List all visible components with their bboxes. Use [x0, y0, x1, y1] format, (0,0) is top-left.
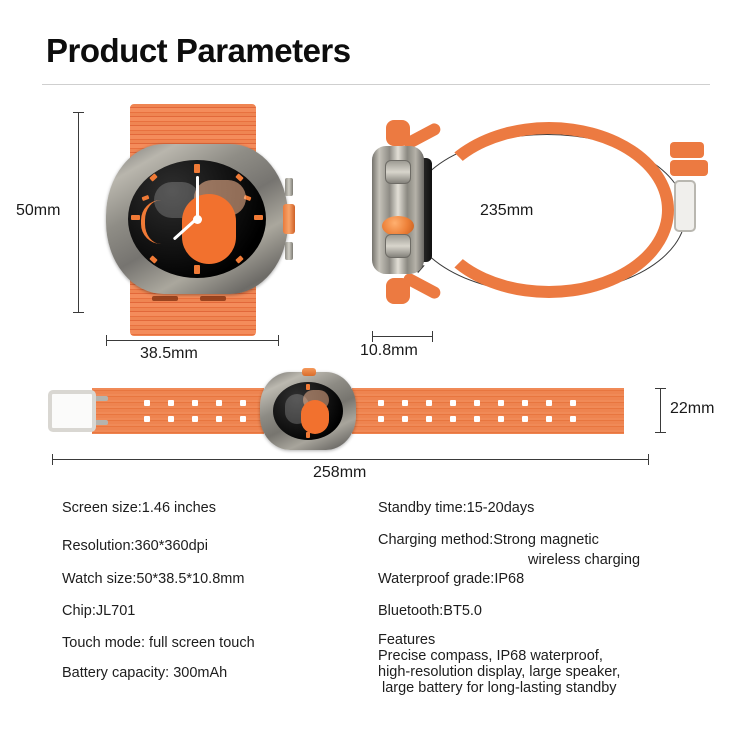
buckle-icon [674, 180, 696, 232]
band-loop [424, 122, 674, 298]
watch-front-view [96, 104, 296, 336]
dimension-label-band-width: 22mm [670, 400, 714, 418]
dimension-label-total-length: 258mm [313, 464, 366, 482]
spec-watch-size: Watch size:50*38.5*10.8mm [62, 571, 244, 587]
watch-case-flat [260, 372, 356, 450]
title-divider [42, 84, 710, 85]
band-hole [522, 416, 528, 422]
dial-tick [235, 173, 244, 181]
band-hole [192, 400, 198, 406]
spec-standby-time: Standby time:15-20days [378, 500, 534, 516]
dial-tick [149, 173, 158, 181]
dimension-cap [73, 312, 84, 313]
dial-motif [182, 194, 236, 264]
band-hole [546, 416, 552, 422]
spec-features-heading: Features [378, 632, 435, 648]
spec-touch-mode: Touch mode: full screen touch [62, 635, 255, 651]
dimension-line-total-length [52, 459, 648, 460]
band-hole [144, 400, 150, 406]
crown-icon [302, 368, 316, 376]
dimension-label-width-front: 38.5mm [140, 345, 198, 363]
band-hole [378, 400, 384, 406]
band-hole [426, 416, 432, 422]
spec-resolution: Resolution:360*360dpi [62, 538, 208, 554]
band-hole [240, 400, 246, 406]
band-left [92, 388, 264, 434]
band-hole [402, 400, 408, 406]
watch-flat-lay-view [44, 372, 664, 450]
band-hole [378, 416, 384, 422]
band-hole [498, 400, 504, 406]
side-button-icon [385, 160, 411, 184]
band-hole [522, 400, 528, 406]
dimension-cap [106, 335, 107, 346]
band-hole [570, 416, 576, 422]
dimension-cap [655, 432, 666, 433]
dimension-label-thickness: 10.8mm [360, 342, 418, 360]
band-keeper [670, 160, 708, 176]
band-slot [152, 296, 178, 301]
band-keeper [670, 142, 704, 158]
dial-tick [235, 255, 244, 263]
dial-tick [254, 215, 263, 220]
dimension-cap [372, 331, 373, 342]
crown-icon [283, 204, 295, 234]
page-title: Product Parameters [46, 32, 351, 70]
band-hole [474, 416, 480, 422]
spec-charging-method: Charging method:Strong magnetic [378, 532, 599, 548]
band-right [352, 388, 624, 434]
band-hole [498, 416, 504, 422]
dimension-cap [648, 454, 649, 465]
dimension-label-height-front: 50mm [16, 202, 60, 220]
band-hole [402, 416, 408, 422]
watch-case-profile [372, 146, 424, 274]
dimension-cap [278, 335, 279, 346]
watch-dial-flat [273, 382, 343, 440]
band-hole [450, 416, 456, 422]
dial-motif [301, 400, 329, 434]
side-button-icon [285, 178, 293, 196]
band-stub [386, 278, 410, 304]
dimension-cap [432, 331, 433, 342]
band-slot [200, 296, 226, 301]
dial-tick [149, 255, 158, 263]
band-stub [386, 120, 410, 146]
band-hole [450, 400, 456, 406]
spec-features-line-3: large battery for long-lasting standby [382, 680, 617, 696]
watch-case [106, 144, 288, 294]
dial-tick [131, 215, 140, 220]
spec-waterproof-grade: Waterproof grade:IP68 [378, 571, 524, 587]
band-hole [570, 400, 576, 406]
band-hole [144, 416, 150, 422]
band-hole [216, 400, 222, 406]
dial-tick [306, 432, 310, 438]
watch-dial [128, 160, 266, 278]
dial-tick [306, 384, 310, 390]
dimension-line-thickness [372, 336, 432, 337]
spec-screen-size: Screen size:1.46 inches [62, 500, 216, 516]
band-hole [168, 400, 174, 406]
spec-chip: Chip:JL701 [62, 603, 135, 619]
buckle-icon [48, 390, 96, 432]
dimension-cap [655, 388, 666, 389]
band-hole [426, 400, 432, 406]
dimension-line-width-front [106, 340, 278, 341]
watch-side-view: 235mm [372, 128, 702, 328]
dial-tick [194, 164, 200, 173]
spec-features-line-1: Precise compass, IP68 waterproof, [378, 648, 603, 664]
dimension-cap [52, 454, 53, 465]
spec-battery-capacity: Battery capacity: 300mAh [62, 665, 227, 681]
dial-tick [194, 265, 200, 274]
dial-tick [142, 195, 150, 201]
dimension-cap [73, 112, 84, 113]
crown-icon [382, 216, 414, 236]
side-button-icon [385, 234, 411, 258]
hand-pivot [193, 215, 202, 224]
side-button-icon [285, 242, 293, 260]
spec-bluetooth: Bluetooth:BT5.0 [378, 603, 482, 619]
spec-features-line-2: high-resolution display, large speaker, [378, 664, 620, 680]
band-hole [168, 416, 174, 422]
band-hole [216, 416, 222, 422]
dimension-line-height-front [78, 112, 79, 312]
spec-charging-method-cont: wireless charging [528, 552, 640, 568]
band-hole [474, 400, 480, 406]
band-hole [192, 416, 198, 422]
band-hole [240, 416, 246, 422]
dimension-line-band-width [660, 388, 661, 432]
band-hole [546, 400, 552, 406]
